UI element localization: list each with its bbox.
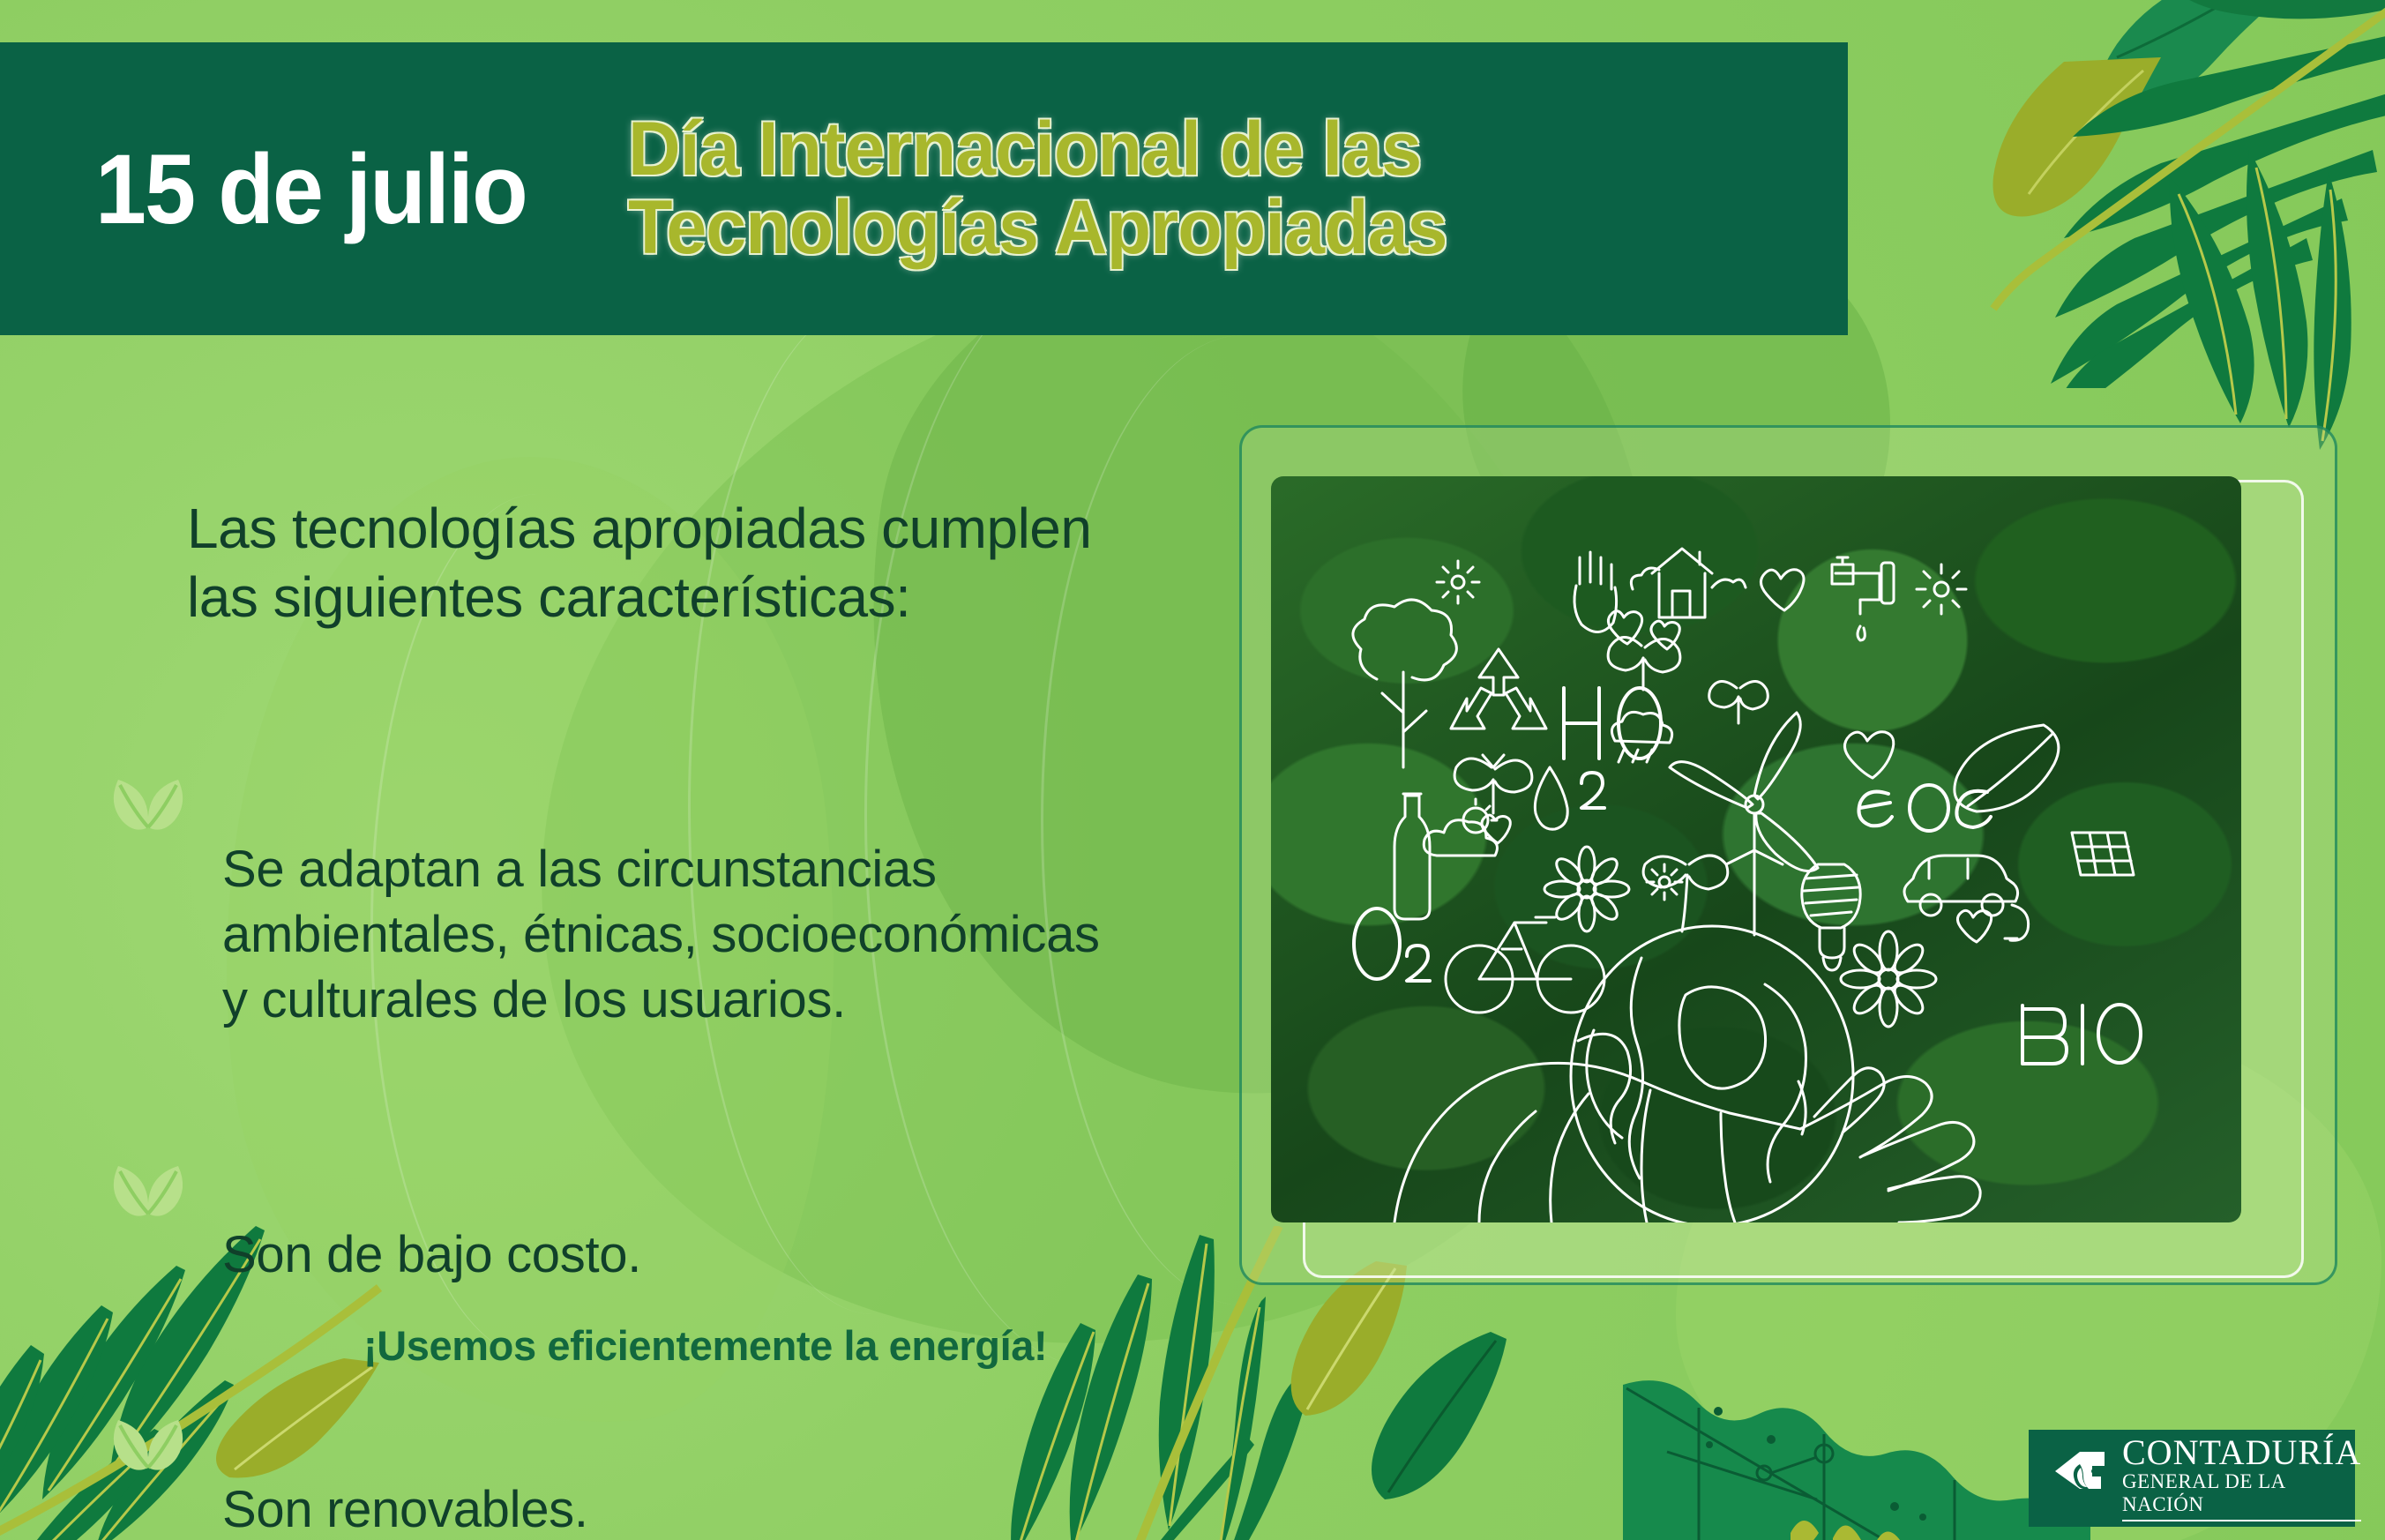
list-item-text: Se adaptan a las circunstancias ambienta… [222, 841, 1100, 1028]
heart-icon [1608, 611, 1641, 644]
content-column: Las tecnologías apropiadas cumplen las s… [0, 494, 1235, 1540]
bio-text [2022, 1005, 2141, 1064]
header-banner: 15 de julio Día Internacional de las Tec… [0, 42, 1848, 335]
event-date: 15 de julio [95, 132, 527, 246]
faucet-icon [1832, 557, 1894, 640]
sprout-icon [1643, 856, 1728, 931]
sun-burst-icon [1917, 564, 1966, 614]
butterfly-icon [1454, 755, 1532, 813]
list-item-text: Son renovables. [222, 1481, 588, 1538]
butterfly-icon [1709, 681, 1768, 723]
bicycle-icon [1446, 917, 1604, 1013]
leaf-icon [1955, 725, 2059, 811]
logo-line-1: CONTADURÍA [2122, 1435, 2361, 1470]
heart-icon [1844, 732, 1893, 778]
list-item: Son renovables. [222, 1346, 1219, 1540]
butterfly-icon [1608, 637, 1680, 690]
sun-burst-icon [1437, 561, 1479, 603]
house-icon [1631, 549, 1746, 617]
media-card [1239, 425, 2342, 1290]
eco-text [1859, 785, 1992, 831]
flower-icon [1544, 847, 1629, 931]
list-item: Son de bajo costo. [222, 1091, 1219, 1288]
flower-icon [1841, 931, 1936, 1027]
hand-holding-icon [1394, 1063, 1980, 1222]
leaf-bullet-icon [106, 1093, 191, 1165]
water-drop-icon [1535, 767, 1567, 829]
heart-icon [1761, 570, 1804, 610]
hand-icon [1574, 552, 1617, 632]
globe-icon [1571, 926, 1853, 1222]
leaf-bullet-icon [106, 1348, 191, 1420]
list-item: Se adaptan a las circunstancias ambienta… [222, 706, 1219, 1033]
contaduria-emblem-icon [2053, 1450, 2106, 1506]
eco-doodle-overlay [1271, 476, 2241, 1222]
leaf-bullet-icon [106, 707, 191, 780]
tree-icon [1353, 600, 1456, 767]
h2o-text [1564, 688, 1661, 808]
heart-icon [1957, 910, 1991, 942]
organization-logo: CONTADURÍA GENERAL DE LA NACIÓN [2029, 1430, 2355, 1527]
page-title: Día Internacional de las Tecnologías Apr… [628, 110, 1447, 268]
bottle-icon [1394, 794, 1430, 919]
lightbulb-icon [1802, 864, 1860, 970]
characteristics-list: Se adaptan a las circunstancias ambienta… [0, 706, 1235, 1540]
eco-illustration-photo [1271, 476, 2241, 1222]
list-item-text: Son de bajo costo. [222, 1226, 641, 1283]
tagline: ¡Usemos eficientemente la energía! [363, 1321, 1047, 1370]
solar-panel-icon [2072, 833, 2134, 875]
lead-paragraph: Las tecnologías apropiadas cumplen las s… [187, 494, 1228, 632]
logo-line-2: GENERAL DE LA NACIÓN [2122, 1470, 2361, 1521]
cloud-sun-icon [1424, 799, 1497, 856]
electric-car-icon [1904, 856, 2029, 940]
windmill-icon [1670, 713, 1818, 935]
recycle-icon [1451, 649, 1546, 729]
